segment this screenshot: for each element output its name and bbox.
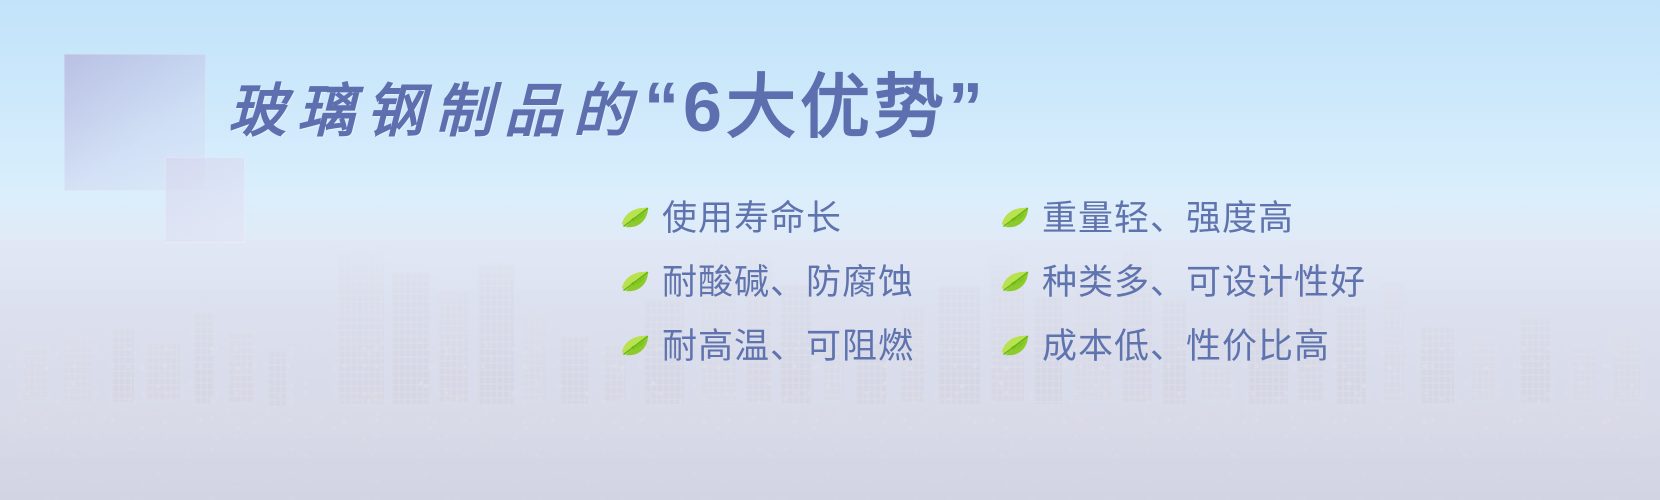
leaf-icon [1000, 269, 1030, 295]
leaf-icon [620, 205, 650, 231]
feature-item: 使用寿命长 [620, 201, 1000, 236]
page-title: 玻璃钢制品的 “6大优势” [228, 72, 987, 142]
feature-label: 成本低、性价比高 [1042, 329, 1330, 364]
feature-label: 耐高温、可阻燃 [662, 329, 914, 364]
feature-item: 重量轻、强度高 [1000, 201, 1450, 236]
decorative-square-small [165, 157, 245, 243]
leaf-icon [1000, 333, 1030, 359]
title-quoted-text: “6大优势” [644, 72, 987, 142]
feature-item: 耐高温、可阻燃 [620, 329, 1000, 364]
feature-label: 种类多、可设计性好 [1042, 265, 1366, 300]
feature-label: 使用寿命长 [662, 201, 842, 236]
feature-label: 重量轻、强度高 [1042, 201, 1294, 236]
leaf-icon [620, 269, 650, 295]
title-brush-text: 玻璃钢制品的 [228, 82, 642, 140]
feature-list: 使用寿命长 重量轻、强度高 耐酸碱、防腐蚀 [620, 186, 1450, 378]
feature-label: 耐酸碱、防腐蚀 [662, 265, 914, 300]
feature-item: 成本低、性价比高 [1000, 329, 1450, 364]
promo-banner: 玻璃钢制品的 “6大优势” 使用寿命长 重量轻、强度高 [0, 0, 1660, 500]
leaf-icon [1000, 205, 1030, 231]
feature-item: 种类多、可设计性好 [1000, 265, 1450, 300]
leaf-icon [620, 333, 650, 359]
feature-item: 耐酸碱、防腐蚀 [620, 265, 1000, 300]
